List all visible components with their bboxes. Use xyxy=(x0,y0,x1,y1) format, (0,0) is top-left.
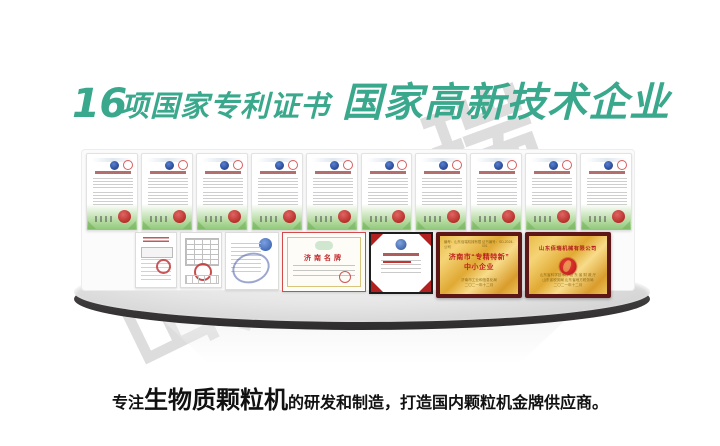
award-certificate-row: 济南名牌 编号：山东佰瑞机械有限公司 证书编号：SD-2024-001 济南市“… xyxy=(135,232,611,290)
license-header xyxy=(143,237,169,244)
headline-hightech: 国家高新技术企业 xyxy=(342,82,670,124)
stamp-icon xyxy=(233,160,243,170)
patent-certificate[interactable] xyxy=(361,153,413,231)
stamp-icon xyxy=(288,160,298,170)
red-seal-icon xyxy=(338,210,351,223)
national-emblem-icon xyxy=(220,161,229,170)
certificate-footer-grid xyxy=(185,275,219,284)
certificate-text-block xyxy=(477,192,517,206)
certificate-signature xyxy=(315,216,335,222)
certificate-text-block xyxy=(587,192,627,206)
certificate-text-block xyxy=(93,178,133,188)
patent-certificate[interactable] xyxy=(141,153,193,231)
certificate-text-block xyxy=(203,178,243,188)
plaque-footer: 济南市工业和信息化局 二〇二一年十二月 xyxy=(448,278,510,288)
headline-number: 16 xyxy=(72,84,127,124)
patent-certificate[interactable] xyxy=(525,153,577,231)
patent-certificate[interactable] xyxy=(580,153,632,231)
plaque-arc-title: 山东佰瑞机械有限公司 xyxy=(529,245,607,252)
plaque-title-line1: 济南市“专精特新” xyxy=(440,253,518,263)
national-emblem-icon xyxy=(549,161,558,170)
patent-certificate[interactable] xyxy=(306,153,358,231)
certificate-text-block xyxy=(93,192,133,206)
patent-certificate[interactable] xyxy=(470,153,522,231)
certificate-signature xyxy=(370,216,390,222)
red-seal-icon xyxy=(156,259,171,274)
certificate-signature xyxy=(534,216,554,222)
certificate-text-block xyxy=(258,192,298,206)
certificate-text-block xyxy=(368,192,408,206)
certificate-text-block xyxy=(313,192,353,206)
national-emblem-icon xyxy=(330,161,339,170)
stamp-icon xyxy=(617,160,627,170)
certificate-title-bar xyxy=(150,171,186,174)
certificate-title-bar xyxy=(260,171,296,174)
red-seal-icon xyxy=(173,210,186,223)
stamp-icon xyxy=(397,160,407,170)
certificate-title-bar xyxy=(589,171,625,174)
specialized-sme-plaque[interactable]: 编号：山东佰瑞机械有限公司 证书编号：SD-2024-001 济南市“专精特新”… xyxy=(436,232,522,298)
patent-certificate[interactable] xyxy=(86,153,138,231)
certificate-highlight-line xyxy=(383,261,411,263)
corner-ornament xyxy=(371,280,383,292)
certificate-banner: 山 东 佰 瑞 16 项国家专利证书 国家高新技术企业 xyxy=(0,0,720,446)
tagline: 专注生物质颗粒机的研发和制造，打造国内颗粒机金牌供应商。 xyxy=(0,380,720,415)
certificate-text-block xyxy=(203,192,243,206)
certificate-text-block xyxy=(148,192,188,206)
certificate-text-block xyxy=(148,178,188,188)
tagline-suffix: 的研发和制造，打造国内颗粒机金牌供应商。 xyxy=(288,393,608,412)
plaque-header-right: 证书编号：SD-2024-001 xyxy=(482,239,514,243)
stamp-icon xyxy=(178,160,188,170)
certificate-title-bar xyxy=(205,171,241,174)
plaque-header-left: 编号：山东佰瑞机械有限公司 xyxy=(444,239,482,243)
certificate-text-block xyxy=(477,178,517,188)
red-seal-icon xyxy=(339,271,351,283)
company-honor-plaque[interactable]: 山东佰瑞机械有限公司 山东省科学技术厅 山 东 省 财 政 厅 山东省税务局 山… xyxy=(525,232,611,298)
patent-certificate[interactable] xyxy=(415,153,467,231)
national-emblem-icon xyxy=(385,161,394,170)
certificate-title-bar xyxy=(424,171,460,174)
national-emblem-icon xyxy=(165,161,174,170)
iso-certificate[interactable] xyxy=(225,232,279,290)
brand-certificate-title: 济南名牌 xyxy=(283,253,365,263)
certificate-title-bar xyxy=(95,171,131,174)
red-seal-icon xyxy=(283,210,296,223)
stamp-icon xyxy=(452,160,462,170)
stamp-icon xyxy=(562,160,572,170)
red-seal-icon xyxy=(612,210,625,223)
national-emblem-icon xyxy=(275,161,284,170)
plaque-header: 编号：山东佰瑞机械有限公司 证书编号：SD-2024-001 xyxy=(444,239,514,243)
brand-certificate[interactable]: 济南名牌 xyxy=(282,232,366,292)
certificate-text-block xyxy=(422,178,462,188)
certificate-title-bar xyxy=(383,253,419,256)
certificate-signature xyxy=(205,216,225,222)
certificate-text-block xyxy=(532,178,572,188)
certificate-signature xyxy=(424,216,444,222)
certificate-text-block xyxy=(587,178,627,188)
stamp-icon xyxy=(123,160,133,170)
national-emblem-icon xyxy=(439,161,448,170)
headline-patents: 项国家专利证书 xyxy=(120,92,330,121)
plaque-footer: 山东省科学技术厅 山 东 省 财 政 厅 山东省税务局 山东省地方税务局 二〇二… xyxy=(537,273,599,288)
red-seal-icon xyxy=(118,210,131,223)
corner-ornament xyxy=(419,234,431,246)
plaque-title: 济南市“专精特新” 中小企业 xyxy=(440,253,518,273)
national-emblem-icon xyxy=(110,161,119,170)
headline: 16 项国家专利证书 国家高新技术企业 xyxy=(0,40,720,96)
corner-ornament xyxy=(419,280,431,292)
certificate-text-block xyxy=(368,178,408,188)
certificate-text-block xyxy=(422,192,462,206)
brand-badge-icon xyxy=(315,241,333,250)
national-emblem-icon xyxy=(494,161,503,170)
national-emblem-icon xyxy=(604,161,613,170)
license-code-box xyxy=(141,247,173,258)
tagline-emphasis: 生物质颗粒机 xyxy=(144,386,288,414)
plaque-footer-line3: 二〇二一年十二月 xyxy=(537,283,599,288)
plaque-title-line2: 中小企业 xyxy=(440,263,518,273)
certificate-text-block xyxy=(313,178,353,188)
certificate-title-bar xyxy=(534,171,570,174)
certificate-text-block xyxy=(258,178,298,188)
stamp-icon xyxy=(343,160,353,170)
certificate-title-bar xyxy=(370,171,406,174)
certificate-signature xyxy=(479,216,499,222)
patent-certificate[interactable] xyxy=(196,153,248,231)
corner-ornament xyxy=(371,234,383,246)
certificate-title-bar xyxy=(315,171,351,174)
stamp-icon xyxy=(507,160,517,170)
patent-certificate[interactable] xyxy=(251,153,303,231)
tagline-prefix: 专注 xyxy=(112,393,144,412)
business-license-certificate[interactable] xyxy=(135,232,177,288)
certificate-title-bar xyxy=(479,171,515,174)
national-emblem-icon xyxy=(396,239,407,250)
certificate-text-block xyxy=(532,192,572,206)
certificate-signature xyxy=(589,216,609,222)
red-seal-icon xyxy=(228,210,241,223)
certificate-signature xyxy=(95,216,115,222)
qualification-certificate[interactable] xyxy=(180,232,222,288)
plaque-footer-line2: 二〇二一年十二月 xyxy=(448,283,510,288)
certificate-table-grid xyxy=(185,238,219,266)
certificate-signature xyxy=(150,216,170,222)
hightech-certificate[interactable] xyxy=(369,232,433,294)
patent-certificate-row xyxy=(86,153,632,229)
certificate-signature xyxy=(260,216,280,222)
